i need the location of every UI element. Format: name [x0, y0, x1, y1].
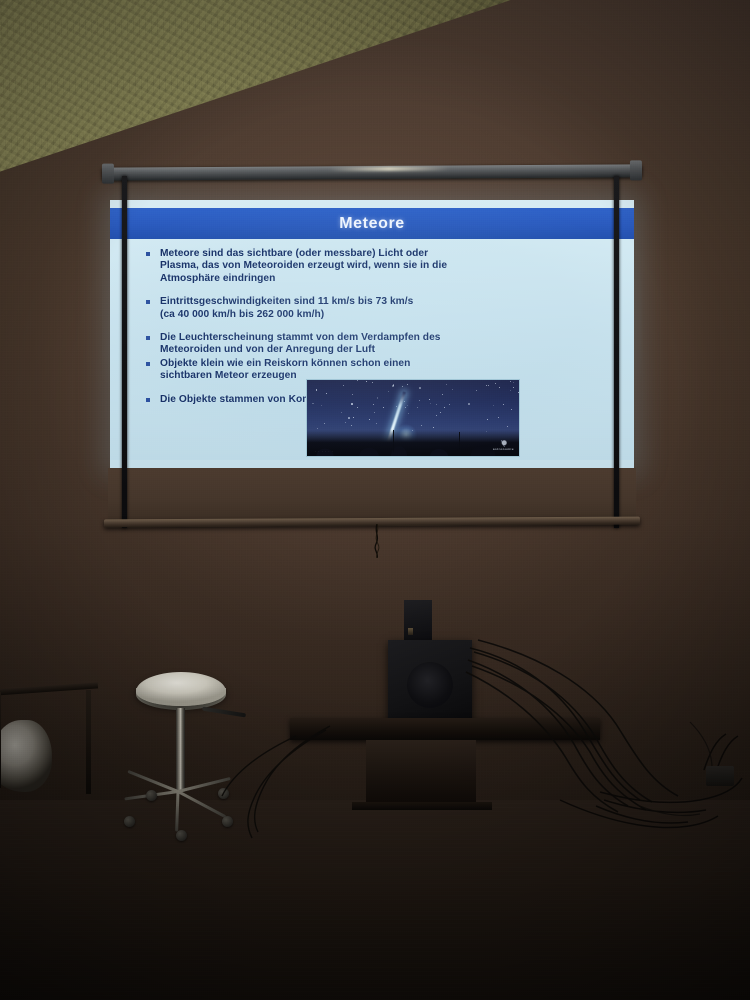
watermark-text: astronomie	[493, 447, 514, 451]
stool-caster	[124, 816, 135, 827]
screen-strap-right	[614, 176, 619, 528]
photo-caption: · · · · · ·	[315, 450, 334, 453]
slide-title-band: Meteore	[110, 208, 634, 239]
presentation-room-photo: Meteore Meteore sind das sichtbare (oder…	[0, 0, 750, 1000]
power-strip[interactable]	[706, 766, 734, 786]
left-desk-cloth	[0, 720, 52, 792]
bullet-line: (ca 40 000 km/h bis 262 000 km/h)	[160, 309, 324, 320]
speaker-driver-icon	[407, 662, 453, 708]
watermark-logo-icon	[497, 440, 509, 447]
stool-gas-column	[176, 708, 185, 792]
photo-bare-tree	[459, 432, 460, 452]
projected-slide: Meteore Meteore sind das sichtbare (oder…	[110, 208, 634, 460]
av-tower-unit	[404, 600, 432, 642]
bullet-line: Plasma, das von Meteoroiden erzeugt wird…	[160, 260, 447, 271]
meteor-night-sky-photograph: · · · · · · astronomie	[306, 379, 520, 457]
stool-height-lever[interactable]	[202, 707, 246, 718]
screen-strap-left	[122, 176, 127, 528]
av-equipment-box	[388, 640, 472, 724]
slide-title: Meteore	[339, 215, 405, 233]
photo-sky: · · · · · · astronomie	[307, 380, 519, 456]
slide-bullet: Meteore sind das sichtbare (oder messbar…	[144, 248, 612, 285]
photo-treeline	[307, 430, 519, 456]
stool-caster	[176, 830, 187, 841]
slide-bullet: Die Leuchterscheinung stammt von dem Ver…	[144, 332, 612, 357]
left-desk	[0, 686, 104, 806]
bullet-line: Atmosphäre eindringen	[160, 273, 275, 284]
screen-fabric-lower	[108, 468, 636, 522]
roller-cap-left	[102, 164, 114, 184]
left-desk-leg	[86, 690, 91, 794]
pull-down-projection-screen[interactable]: Meteore Meteore sind das sichtbare (oder…	[96, 166, 648, 546]
room-floor	[0, 800, 750, 1000]
av-bench-foot	[352, 802, 492, 810]
roller-bar-highlight	[329, 167, 449, 172]
stool-leg	[175, 791, 179, 831]
av-bench-pedestal	[366, 740, 476, 802]
bullet-line: sichtbaren Meteor erzeugen	[160, 370, 297, 381]
slide-bullet: Eintrittsgeschwindigkeiten sind 11 km/s …	[144, 296, 612, 321]
stool-base	[122, 784, 240, 836]
photo-bare-tree	[393, 430, 394, 452]
stool-seat	[136, 672, 226, 706]
screen-roller-bar	[102, 164, 642, 180]
bullet-line: Objekte klein wie ein Reiskorn können sc…	[160, 358, 410, 369]
bullet-line: Die Leuchterscheinung stammt von dem Ver…	[160, 332, 441, 343]
roller-cap-right	[630, 160, 642, 180]
rolling-stool[interactable]	[118, 672, 242, 840]
av-status-led-icon	[408, 628, 413, 635]
screen-pull-cord[interactable]	[368, 524, 386, 558]
stool-caster	[222, 816, 233, 827]
av-bench-top	[290, 718, 600, 740]
av-bench	[290, 718, 600, 814]
bullet-line: Eintrittsgeschwindigkeiten sind 11 km/s …	[160, 296, 413, 307]
left-desk-leg	[0, 692, 1, 788]
stool-caster	[218, 788, 229, 799]
photo-watermark: astronomie	[493, 440, 514, 451]
floor-texture	[0, 800, 750, 1000]
stool-caster	[146, 790, 157, 801]
bullet-line: Meteore sind das sichtbare (oder messbar…	[160, 248, 428, 259]
bullet-line: Meteoroiden und von der Anregung der Luf…	[160, 344, 375, 355]
